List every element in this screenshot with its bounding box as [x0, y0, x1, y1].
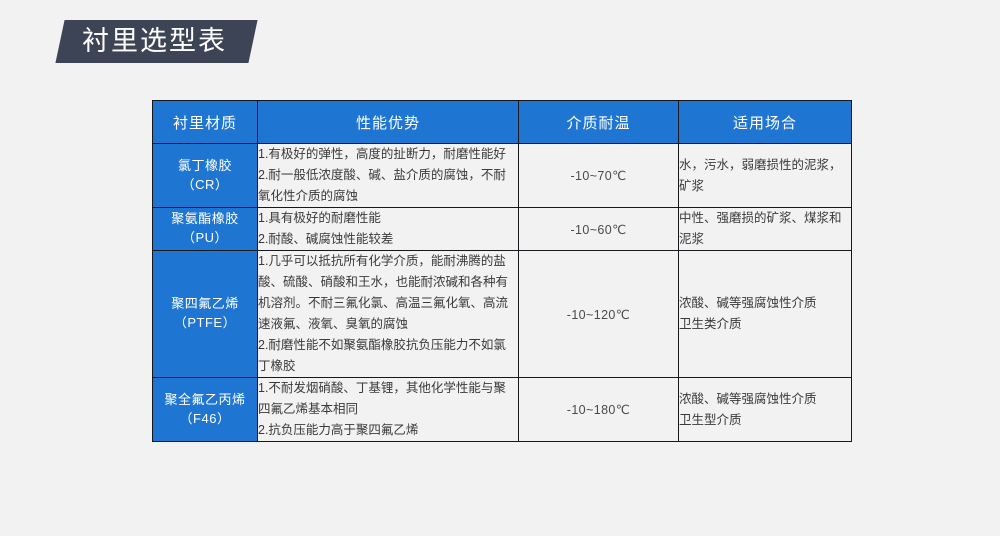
material-abbreviation: （F46） — [153, 410, 257, 429]
cell-temperature: -10~70℃ — [519, 144, 679, 208]
column-header-performance: 性能优势 — [258, 101, 519, 144]
cell-application: 浓酸、碱等强腐蚀性介质 卫生型介质 — [679, 378, 852, 442]
cell-temperature: -10~180℃ — [519, 378, 679, 442]
cell-material: 聚四氟乙烯 （PTFE） — [153, 251, 258, 378]
material-abbreviation: （CR） — [153, 176, 257, 195]
column-header-application: 适用场合 — [679, 101, 852, 144]
material-abbreviation: （PTFE） — [153, 314, 257, 333]
table-row: 聚全氟乙丙烯 （F46） 1.不耐发烟硝酸、丁基锂，其他化学性能与聚四氟乙烯基本… — [153, 378, 852, 442]
cell-material: 氯丁橡胶 （CR） — [153, 144, 258, 208]
page-title-banner: 衬里选型表 — [55, 20, 257, 63]
material-abbreviation: （PU） — [153, 229, 257, 248]
material-name: 聚氨酯橡胶 — [153, 210, 257, 229]
cell-performance: 1.具有极好的耐磨性能 2.耐酸、碱腐蚀性能较差 — [258, 208, 519, 251]
table-header-row: 衬里材质 性能优势 介质耐温 适用场合 — [153, 101, 852, 144]
table-row: 聚四氟乙烯 （PTFE） 1.几乎可以抵抗所有化学介质，能耐沸腾的盐酸、硫酸、硝… — [153, 251, 852, 378]
page-title: 衬里选型表 — [82, 28, 227, 55]
cell-application: 浓酸、碱等强腐蚀性介质 卫生类介质 — [679, 251, 852, 378]
cell-material: 聚全氟乙丙烯 （F46） — [153, 378, 258, 442]
cell-application: 中性、强磨损的矿浆、煤浆和泥浆 — [679, 208, 852, 251]
lining-selection-table: 衬里材质 性能优势 介质耐温 适用场合 氯丁橡胶 （CR） 1.有极好的弹性，高… — [152, 100, 852, 442]
cell-material: 聚氨酯橡胶 （PU） — [153, 208, 258, 251]
material-name: 氯丁橡胶 — [153, 157, 257, 176]
material-name: 聚全氟乙丙烯 — [153, 391, 257, 410]
cell-temperature: -10~60℃ — [519, 208, 679, 251]
table-row: 氯丁橡胶 （CR） 1.有极好的弹性，高度的扯断力，耐磨性能好 2.耐一般低浓度… — [153, 144, 852, 208]
cell-performance: 1.几乎可以抵抗所有化学介质，能耐沸腾的盐酸、硫酸、硝酸和王水，也能耐浓碱和各种… — [258, 251, 519, 378]
table-body: 氯丁橡胶 （CR） 1.有极好的弹性，高度的扯断力，耐磨性能好 2.耐一般低浓度… — [153, 144, 852, 442]
column-header-temperature: 介质耐温 — [519, 101, 679, 144]
cell-application: 水，污水，弱磨损性的泥浆，矿浆 — [679, 144, 852, 208]
cell-performance: 1.有极好的弹性，高度的扯断力，耐磨性能好 2.耐一般低浓度酸、碱、盐介质的腐蚀… — [258, 144, 519, 208]
table-row: 聚氨酯橡胶 （PU） 1.具有极好的耐磨性能 2.耐酸、碱腐蚀性能较差 -10~… — [153, 208, 852, 251]
material-name: 聚四氟乙烯 — [153, 295, 257, 314]
cell-performance: 1.不耐发烟硝酸、丁基锂，其他化学性能与聚四氟乙烯基本相同 2.抗负压能力高于聚… — [258, 378, 519, 442]
cell-temperature: -10~120℃ — [519, 251, 679, 378]
column-header-material: 衬里材质 — [153, 101, 258, 144]
table-header: 衬里材质 性能优势 介质耐温 适用场合 — [153, 101, 852, 144]
